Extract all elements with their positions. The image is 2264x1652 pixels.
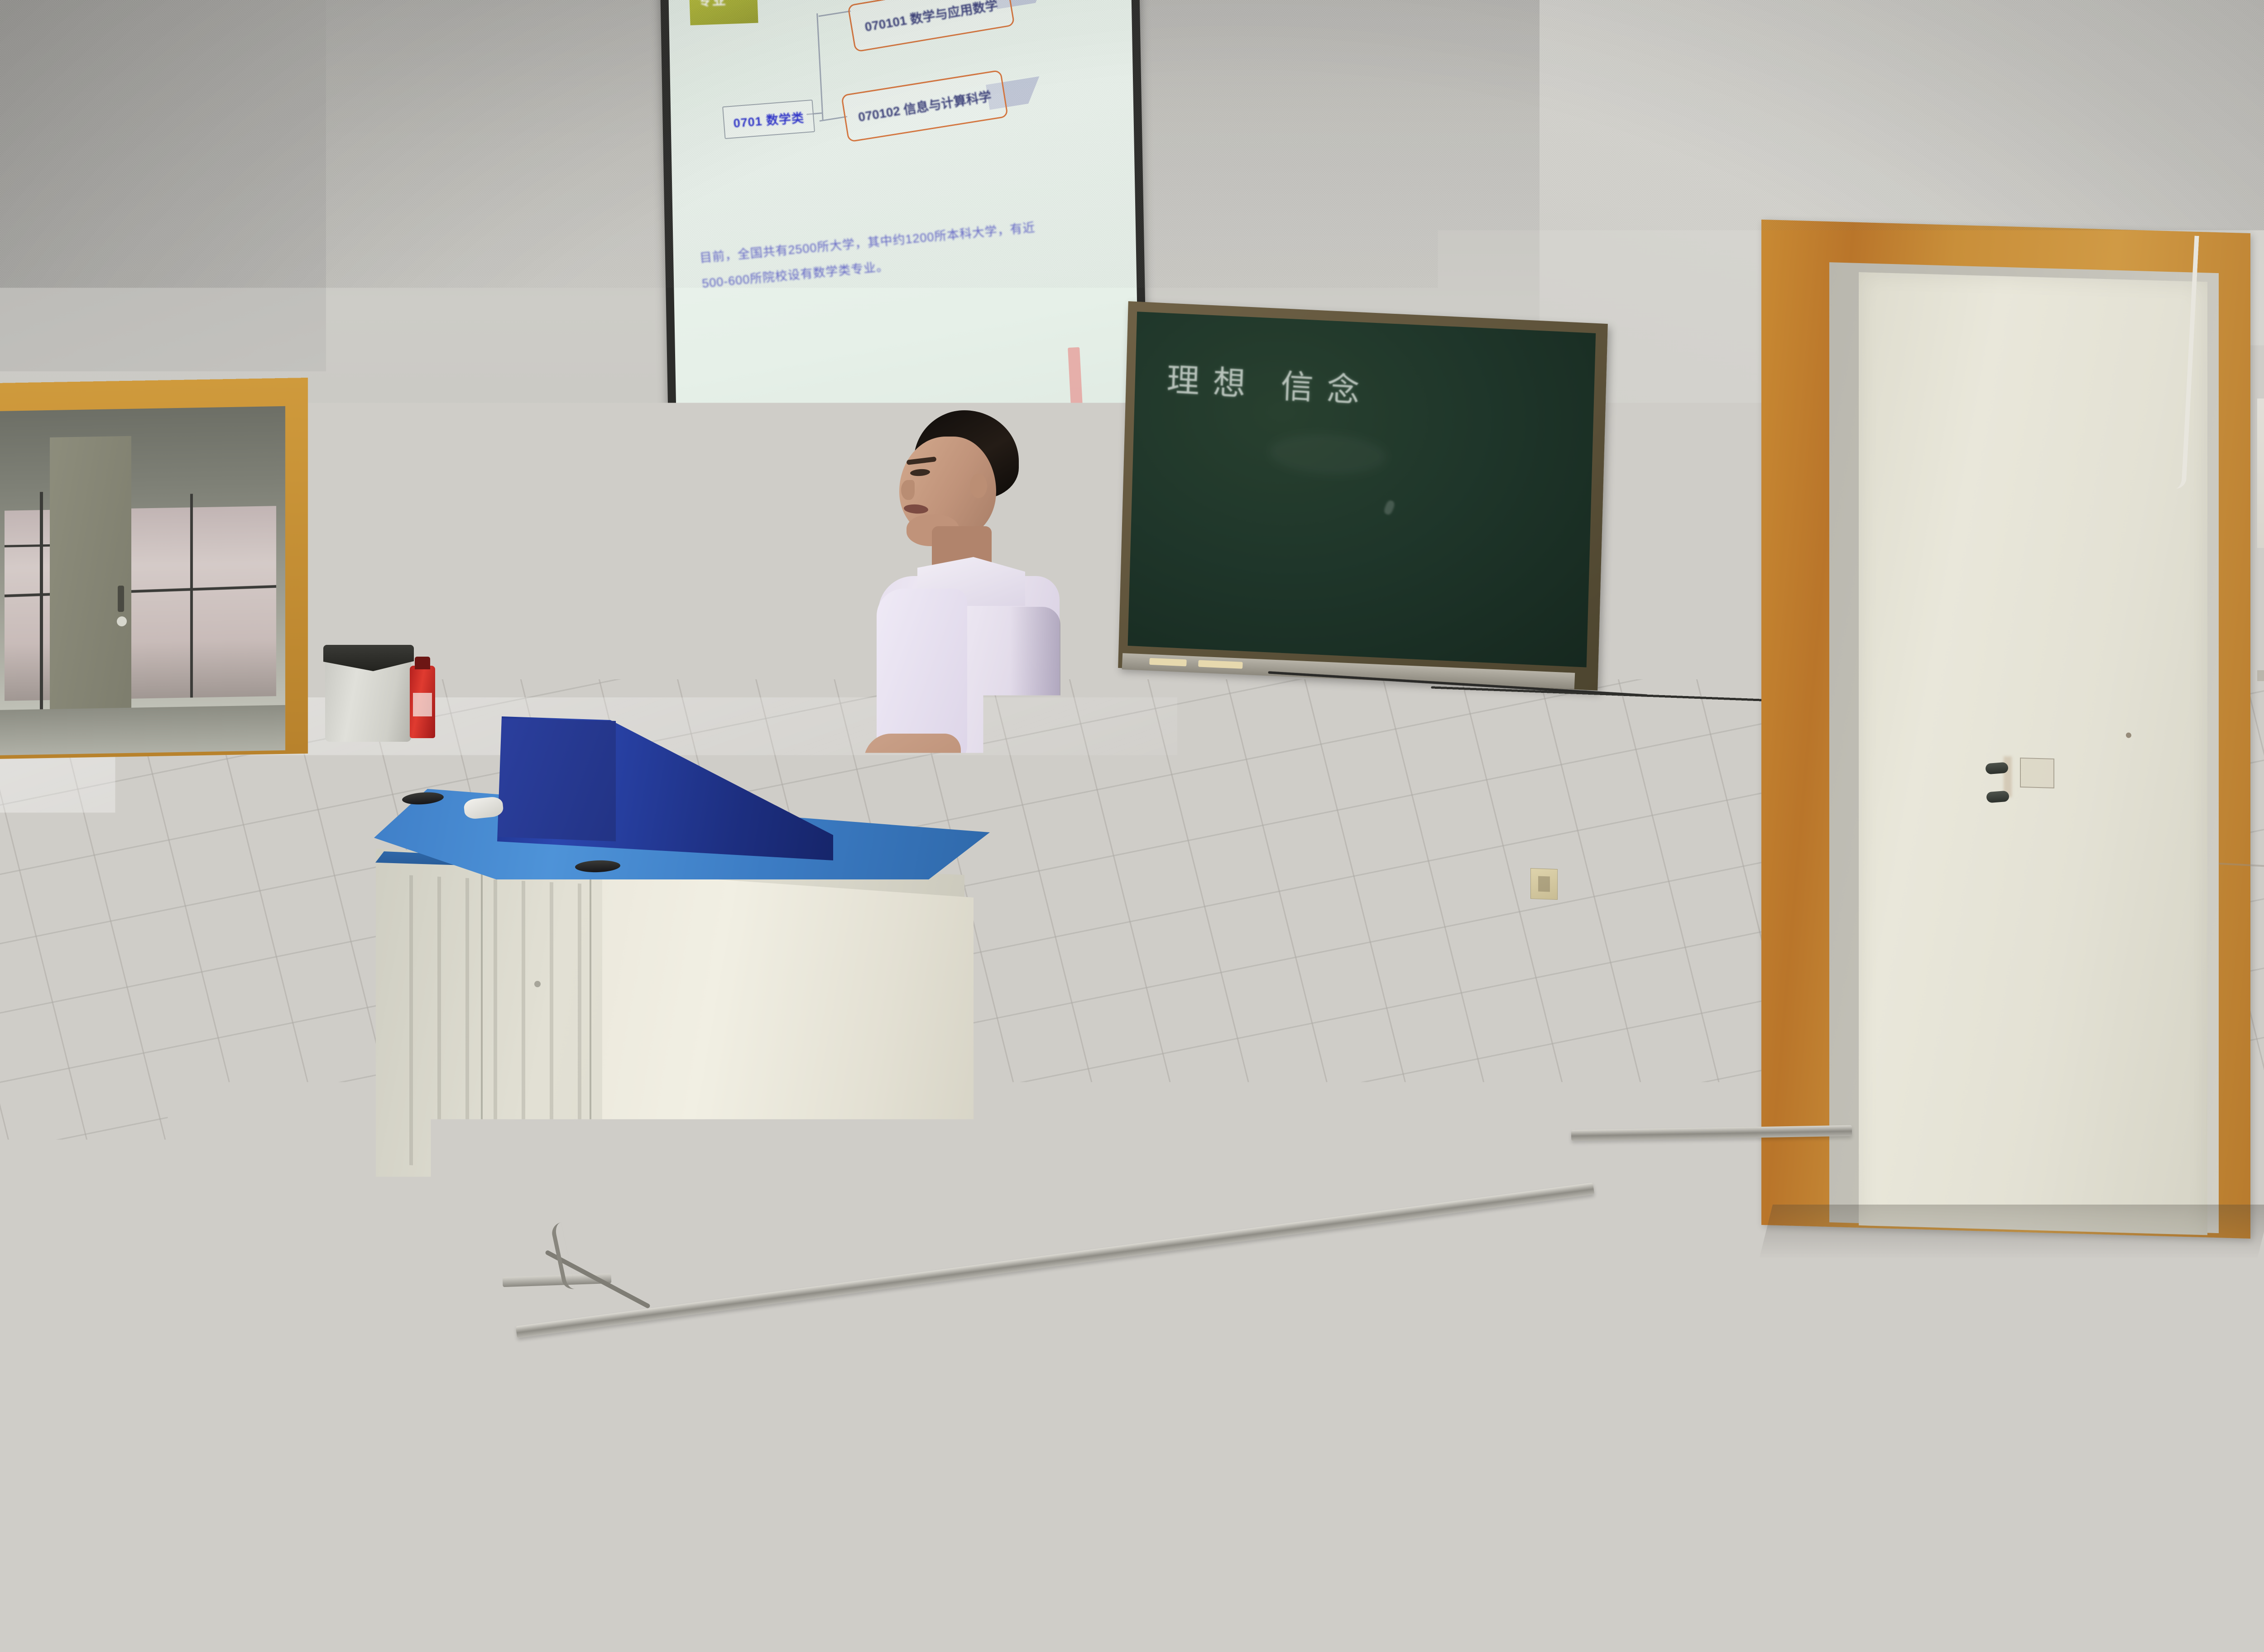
speaker-nose — [901, 480, 915, 500]
panel-screw — [452, 435, 459, 442]
projection-screen-surface: 专业 0701 数学类 070101 数学与应用数学 070102 信息与计算科… — [668, 0, 1140, 457]
wall-patch — [2257, 670, 2264, 681]
service-panel[interactable] — [380, 424, 460, 540]
slide-node-leaf-1-label: 070101 数学与应用数学 — [863, 0, 999, 35]
slide-tag-label: 专业 — [697, 0, 727, 10]
slide-red-marker — [1068, 347, 1083, 420]
lectern-door-seam — [481, 857, 483, 1219]
slide-node-leaf-2: 070102 信息与计算科学 — [841, 70, 1008, 143]
door-handle-icon[interactable] — [118, 586, 124, 612]
classroom-photo: 专业 0701 数学类 070101 数学与应用数学 070102 信息与计算科… — [0, 0, 2264, 1652]
lectern-lock-icon[interactable] — [534, 981, 541, 987]
panel-screw — [452, 521, 459, 528]
slide-corner-tag: 专业 — [689, 0, 758, 25]
blackboard-surface: 理想 信念 — [1128, 312, 1596, 667]
window-mullion — [40, 492, 43, 709]
wall-outlet-left[interactable] — [458, 487, 474, 499]
wall-outlet-right[interactable] — [1530, 868, 1558, 900]
slide-connector — [820, 116, 848, 122]
slide-body-text: 目前，全国共有2500所大学，其中约1200所本科大学，有近 500-600所院… — [699, 217, 1074, 301]
chalk-piece[interactable] — [1149, 658, 1187, 667]
slide-node-root-label: 0701 数学类 — [733, 108, 805, 131]
door-handle-icon[interactable] — [1986, 791, 2010, 803]
door-knob-icon[interactable] — [117, 616, 127, 626]
door-handle-icon[interactable] — [1985, 762, 2009, 775]
door-lock-plate — [2020, 758, 2054, 788]
panel-screw — [452, 480, 459, 487]
chalk-mark — [1383, 499, 1396, 516]
lectern-monitor-front[interactable] — [498, 718, 616, 854]
corridor-doorway-frame[interactable] — [0, 378, 308, 759]
slide-node-leaf-1: 070101 数学与应用数学 — [847, 0, 1015, 53]
door-shadow — [1759, 1205, 2264, 1259]
speaker-shirt-shading — [1010, 607, 1060, 879]
corridor-opening — [0, 406, 285, 755]
window-mullion — [190, 494, 193, 697]
slide-connector — [816, 13, 824, 120]
slide-connector — [818, 10, 851, 17]
classroom-door-panel[interactable] — [1859, 272, 2207, 1235]
wall-outlet-mid[interactable] — [1118, 769, 1143, 798]
speaker-ear — [970, 474, 987, 498]
blue-wall-sign-b — [504, 417, 528, 508]
corridor-door-leaf[interactable] — [50, 436, 131, 755]
slide-node-leaf-2-label: 070102 信息与计算科学 — [857, 86, 993, 125]
door-blemish — [2126, 732, 2131, 738]
fire-extinguisher-label — [413, 693, 432, 716]
chalk-piece[interactable] — [1198, 660, 1243, 669]
chalk-smudge — [1268, 431, 1387, 477]
wall-patch — [2257, 399, 2264, 548]
fire-extinguisher-valve — [415, 657, 430, 669]
back-wall-left — [0, 0, 326, 371]
lectern-door-seam — [590, 862, 591, 1225]
blackboard: 理想 信念 — [1118, 301, 1608, 691]
corridor-window-glass — [5, 506, 276, 701]
blue-wall-sign-a — [330, 453, 375, 488]
corridor-floor — [0, 705, 285, 755]
blackboard-chalk-text: 理想 信念 — [1166, 353, 1374, 412]
classroom-door-frame — [1761, 220, 2250, 1239]
lectern-cabinet-front[interactable] — [602, 871, 974, 1274]
speaker-hand — [854, 779, 904, 829]
slide-node-root: 0701 数学类 — [722, 100, 815, 139]
